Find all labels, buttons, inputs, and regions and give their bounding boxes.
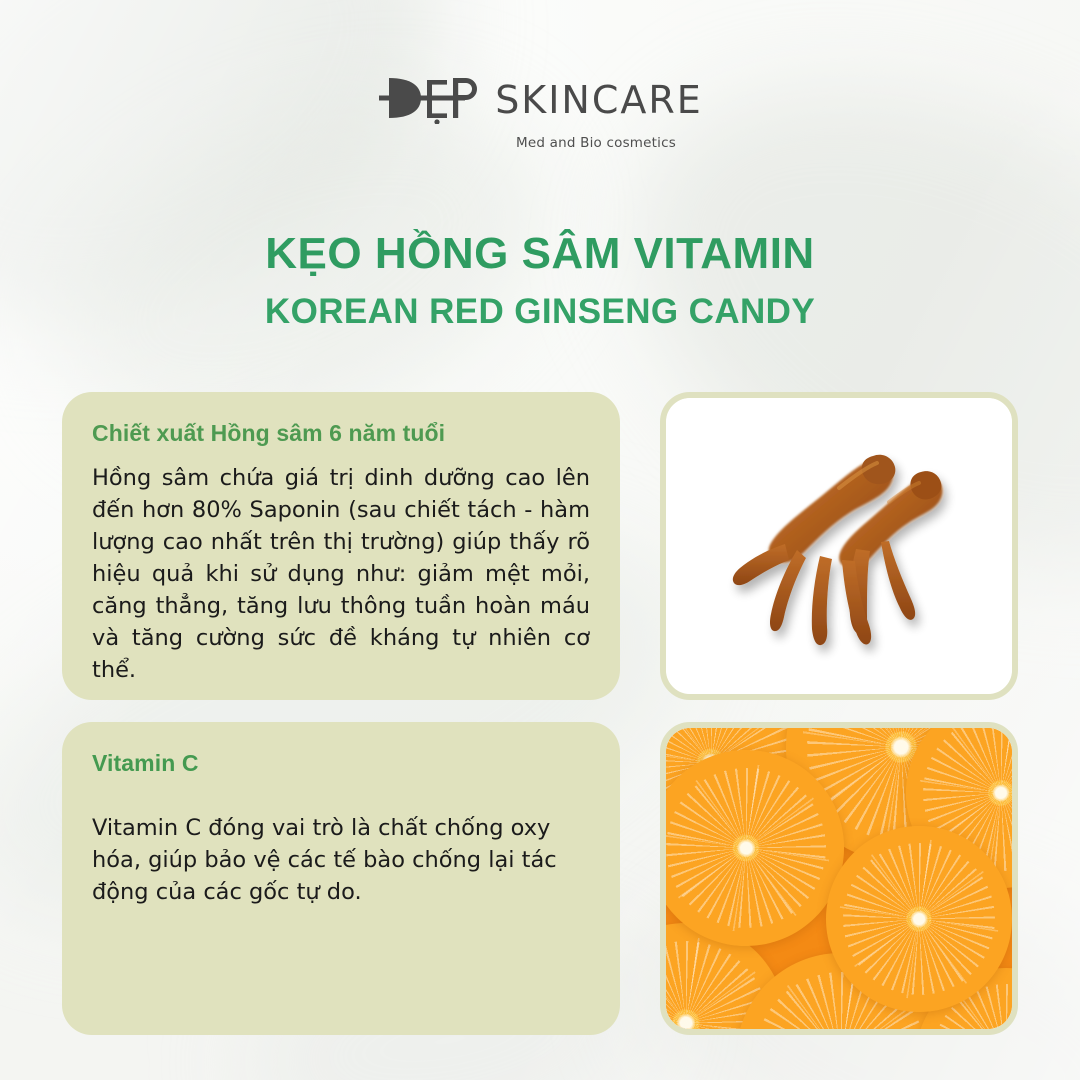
poster-canvas: SKINCARE Med and Bio cosmetics KẸO HỒNG …: [0, 0, 1080, 1080]
info-card-ginseng: Chiết xuất Hồng sâm 6 năm tuổi Hồng sâm …: [62, 392, 620, 700]
dep-logo-mark-icon: [377, 72, 481, 128]
brand-tagline: Med and Bio cosmetics: [516, 135, 676, 151]
ginseng-root-photo: [666, 398, 1012, 694]
card-body-vitamin-c: Vitamin C đóng vai trò là chất chống oxy…: [92, 813, 590, 909]
brand-logo: SKINCARE Med and Bio cosmetics: [0, 72, 1080, 151]
card-body-ginseng: Hồng sâm chứa giá trị dinh dưỡng cao lên…: [92, 463, 590, 687]
image-card-ginseng: [660, 392, 1018, 700]
orange-slices-photo: [666, 728, 1012, 1029]
card-heading-vitamin-c: Vitamin C: [92, 750, 590, 777]
card-heading-ginseng: Chiết xuất Hồng sâm 6 năm tuổi: [92, 420, 590, 447]
page-subtitle: KOREAN RED GINSENG CANDY: [0, 292, 1080, 332]
info-card-vitamin-c: Vitamin C Vitamin C đóng vai trò là chất…: [62, 722, 620, 1035]
image-card-orange: [660, 722, 1018, 1035]
page-title: KẸO HỒNG SÂM VITAMIN: [0, 228, 1080, 279]
brand-wordmark: SKINCARE: [495, 81, 703, 119]
title-block: KẸO HỒNG SÂM VITAMIN KOREAN RED GINSENG …: [0, 228, 1080, 332]
